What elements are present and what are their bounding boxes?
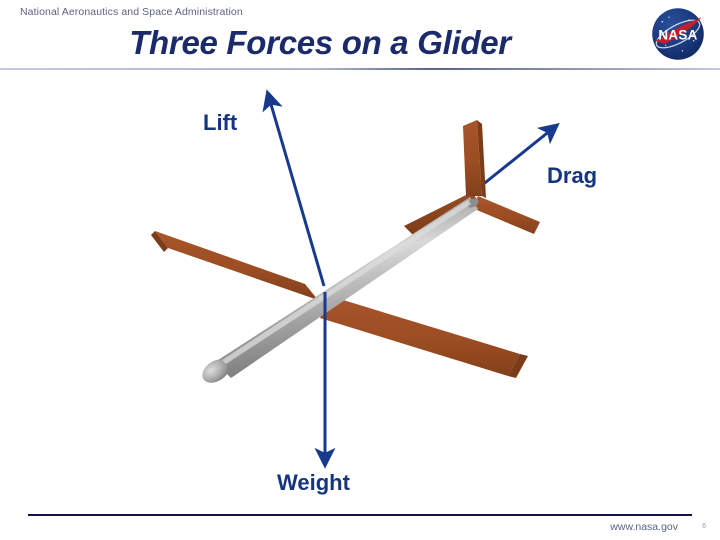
slide: National Aeronautics and Space Administr…: [0, 0, 720, 540]
glider-three-forces-diagram: [0, 72, 720, 512]
drag-force-arrow: [476, 126, 556, 190]
main-wing-right: [320, 296, 520, 376]
slide-page-number: 6: [702, 523, 706, 530]
main-wing-left: [155, 231, 318, 300]
page-title: Three Forces on a Glider: [0, 24, 640, 62]
header-divider: [0, 68, 720, 70]
glider-model: [151, 120, 540, 388]
footer-divider: [28, 514, 692, 516]
lift-force-arrow: [268, 94, 324, 286]
nasa-logo-svg: NASA: [650, 6, 706, 62]
drag-force-label: Drag: [547, 163, 597, 189]
horizontal-stabilizer-right: [472, 196, 540, 234]
logo-wordmark: NASA: [658, 28, 697, 43]
agency-name: National Aeronautics and Space Administr…: [20, 6, 243, 18]
weight-force-label: Weight: [277, 470, 350, 496]
nasa-website-url: www.nasa.gov: [610, 521, 678, 533]
nasa-meatball-logo: NASA: [650, 6, 706, 62]
lift-force-label: Lift: [203, 110, 237, 136]
